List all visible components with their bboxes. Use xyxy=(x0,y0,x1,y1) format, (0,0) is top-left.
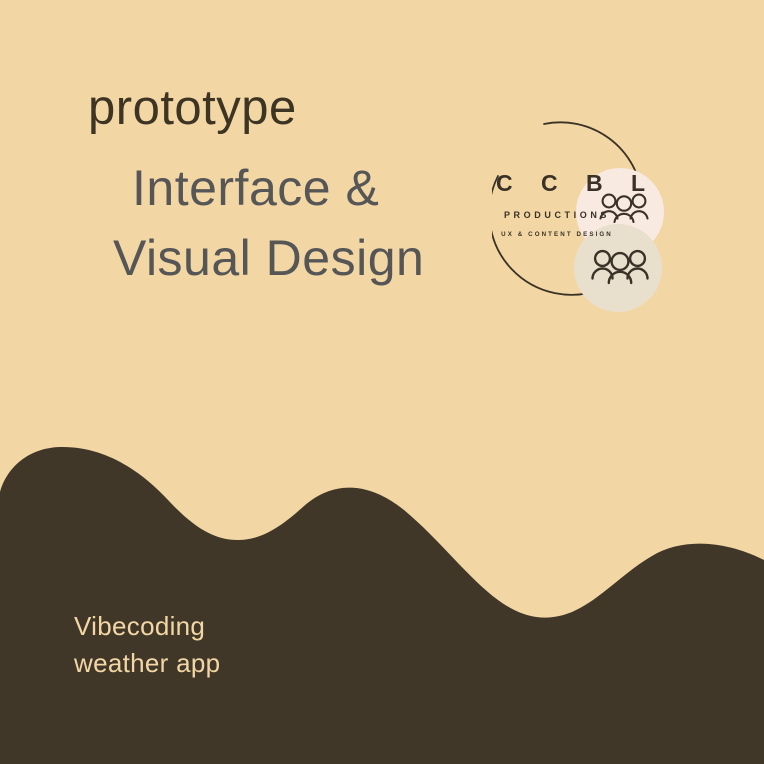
logo-subtitle-secondary: UX & CONTENT DESIGN xyxy=(496,231,618,238)
caption-block: Vibecoding weather app xyxy=(74,608,220,682)
eyebrow-text: prototype xyxy=(88,84,297,133)
logo-subtitle-primary: PRODUCTIONS xyxy=(496,210,618,220)
logo: C C B L PRODUCTIONS UX & CONTENT DESIGN xyxy=(492,112,688,308)
logo-brand-text: C C B L xyxy=(496,170,626,197)
people-group-icon xyxy=(590,246,650,292)
caption-line-1: Vibecoding xyxy=(74,608,220,645)
poster-canvas: prototype Interface & Visual Design xyxy=(0,0,764,764)
page-title-line-2: Visual Design xyxy=(113,233,424,283)
caption-line-2: weather app xyxy=(74,645,220,682)
page-title-line-1: Interface & xyxy=(132,163,379,213)
hills-path xyxy=(0,447,764,764)
